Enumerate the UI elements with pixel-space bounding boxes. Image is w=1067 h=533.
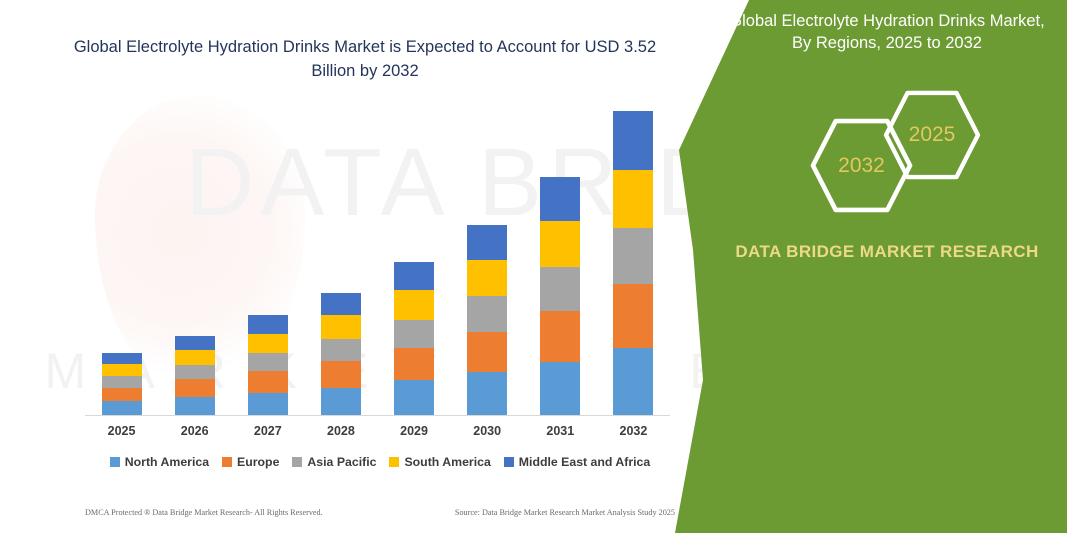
bar-segment: [175, 397, 215, 415]
x-axis-tick-label: 2026: [158, 424, 231, 438]
bar-column: [231, 100, 304, 415]
bar-segment: [613, 228, 653, 284]
bar-segment: [248, 353, 288, 371]
bar-segment: [613, 284, 653, 348]
stacked-bar: [467, 225, 507, 415]
legend-item[interactable]: South America: [389, 455, 490, 469]
legend-label: Asia Pacific: [307, 455, 376, 469]
infographic-canvas: DATA BRIDGE M A R K E T R E S E A R C H …: [0, 0, 1067, 533]
right-green-panel: Global Electrolyte Hydration Drinks Mark…: [667, 0, 1067, 533]
legend-swatch-icon: [222, 457, 232, 467]
legend-item[interactable]: North America: [110, 455, 209, 469]
x-axis-labels: 20252026202720282029203020312032: [85, 424, 670, 438]
legend-swatch-icon: [504, 457, 514, 467]
panel-heading: Global Electrolyte Hydration Drinks Mark…: [727, 10, 1047, 55]
bar-column: [304, 100, 377, 415]
bar-segment: [467, 225, 507, 260]
bar-segment: [175, 350, 215, 365]
panel-brand-name: DATA BRIDGE MARKET RESEARCH: [727, 240, 1047, 265]
stacked-bar-chart: [85, 100, 670, 415]
bar-segment: [540, 362, 580, 415]
bar-segment: [540, 311, 580, 362]
bar-segment: [394, 290, 434, 319]
chart-legend: North AmericaEuropeAsia PacificSouth Ame…: [85, 455, 675, 469]
bar-segment: [394, 380, 434, 415]
footer-copyright: DMCA Protected ® Data Bridge Market Rese…: [85, 508, 323, 517]
x-axis-tick-label: 2028: [304, 424, 377, 438]
stacked-bar: [613, 111, 653, 415]
bar-segment: [394, 348, 434, 381]
x-axis-tick-label: 2027: [231, 424, 304, 438]
bar-segment: [102, 376, 142, 387]
bar-segment: [248, 334, 288, 353]
hexagon-group: 2032 2025: [727, 90, 1057, 205]
bar-segment: [248, 315, 288, 333]
legend-label: North America: [125, 455, 209, 469]
stacked-bar: [248, 315, 288, 415]
stacked-bar: [102, 353, 142, 415]
bar-segment: [467, 296, 507, 332]
bar-segment: [321, 361, 361, 387]
bar-segment: [321, 315, 361, 338]
bar-segment: [175, 365, 215, 379]
bar-segment: [540, 267, 580, 312]
bar-segment: [540, 177, 580, 221]
bar-segment: [175, 379, 215, 396]
stacked-bar: [540, 177, 580, 415]
bar-segment: [102, 388, 142, 401]
x-axis-tick-label: 2032: [597, 424, 670, 438]
bar-segment: [394, 262, 434, 290]
bar-segment: [102, 364, 142, 376]
bar-segment: [394, 320, 434, 348]
hexagon-end-year: 2025: [882, 90, 982, 180]
bar-segment: [613, 170, 653, 228]
bar-segment: [175, 336, 215, 350]
bar-column: [85, 100, 158, 415]
bar-column: [597, 100, 670, 415]
bar-column: [378, 100, 451, 415]
x-axis-tick-label: 2031: [524, 424, 597, 438]
bar-column: [524, 100, 597, 415]
bar-column: [451, 100, 524, 415]
chart-title: Global Electrolyte Hydration Drinks Mark…: [60, 36, 670, 84]
stacked-bar: [175, 336, 215, 415]
hexagon-end-year-label: 2025: [882, 90, 982, 180]
bar-segment: [248, 393, 288, 415]
legend-swatch-icon: [110, 457, 120, 467]
bar-segment: [248, 371, 288, 392]
bar-segment: [613, 348, 653, 415]
footer: DMCA Protected ® Data Bridge Market Rese…: [85, 508, 675, 517]
bar-segment: [102, 353, 142, 364]
bar-segment: [467, 372, 507, 415]
legend-swatch-icon: [389, 457, 399, 467]
bar-column: [158, 100, 231, 415]
bar-segment: [321, 388, 361, 415]
legend-label: South America: [404, 455, 490, 469]
bar-segment: [613, 111, 653, 170]
legend-item[interactable]: Asia Pacific: [292, 455, 376, 469]
legend-swatch-icon: [292, 457, 302, 467]
x-axis-line: [85, 415, 670, 416]
x-axis-tick-label: 2025: [85, 424, 158, 438]
stacked-bar: [321, 293, 361, 415]
footer-source: Source: Data Bridge Market Research Mark…: [455, 508, 675, 517]
bar-segment: [102, 401, 142, 415]
bar-segment: [467, 332, 507, 373]
legend-item[interactable]: Europe: [222, 455, 279, 469]
x-axis-tick-label: 2029: [378, 424, 451, 438]
stacked-bar: [394, 262, 434, 415]
bar-segment: [321, 293, 361, 315]
x-axis-tick-label: 2030: [451, 424, 524, 438]
legend-item[interactable]: Middle East and Africa: [504, 455, 650, 469]
bar-segment: [540, 221, 580, 267]
bar-segment: [467, 260, 507, 297]
legend-label: Middle East and Africa: [519, 455, 650, 469]
bar-segment: [321, 339, 361, 361]
legend-label: Europe: [237, 455, 279, 469]
